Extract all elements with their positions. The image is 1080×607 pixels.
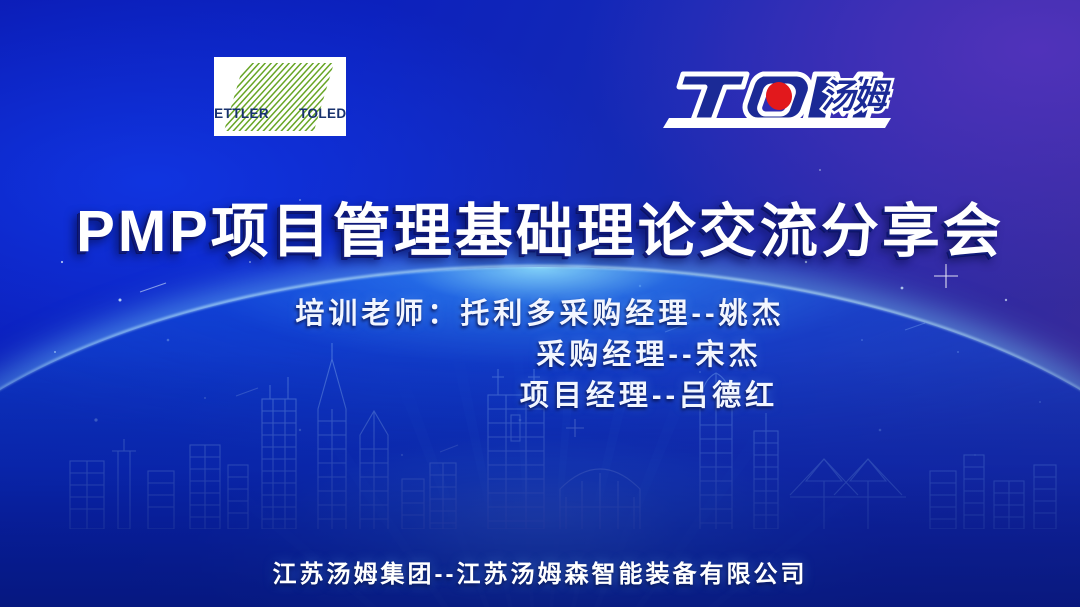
toledo-word: TOLEDO [299,106,346,121]
page-title: PMP项目管理基础理论交流分享会 [0,184,1080,268]
tom-logo: 汤姆 [655,62,905,134]
mettler-toledo-logo: METTLER TOLEDO [214,57,346,136]
presenter-line-1: 培训老师：托利多采购经理--姚杰 [0,294,1080,335]
presenter-line-3: 项目经理--吕德红 [0,376,1080,417]
mettler-toledo-hatch-icon [214,57,346,136]
company-footer: 江苏汤姆集团--江苏汤姆森智能装备有限公司 [0,554,1080,589]
mettler-word: METTLER [214,106,269,121]
presentation-slide: METTLER TOLEDO 汤姆 PMP项目管理基础理 [0,0,1080,607]
presenter-list: 培训老师：托利多采购经理--姚杰 采购经理--宋杰 项目经理--吕德红 [0,294,1080,417]
mettler-toledo-wordmark: METTLER TOLEDO [214,106,346,121]
presenter-line-2: 采购经理--宋杰 [0,335,1080,376]
svg-text:汤姆: 汤姆 [821,78,892,116]
